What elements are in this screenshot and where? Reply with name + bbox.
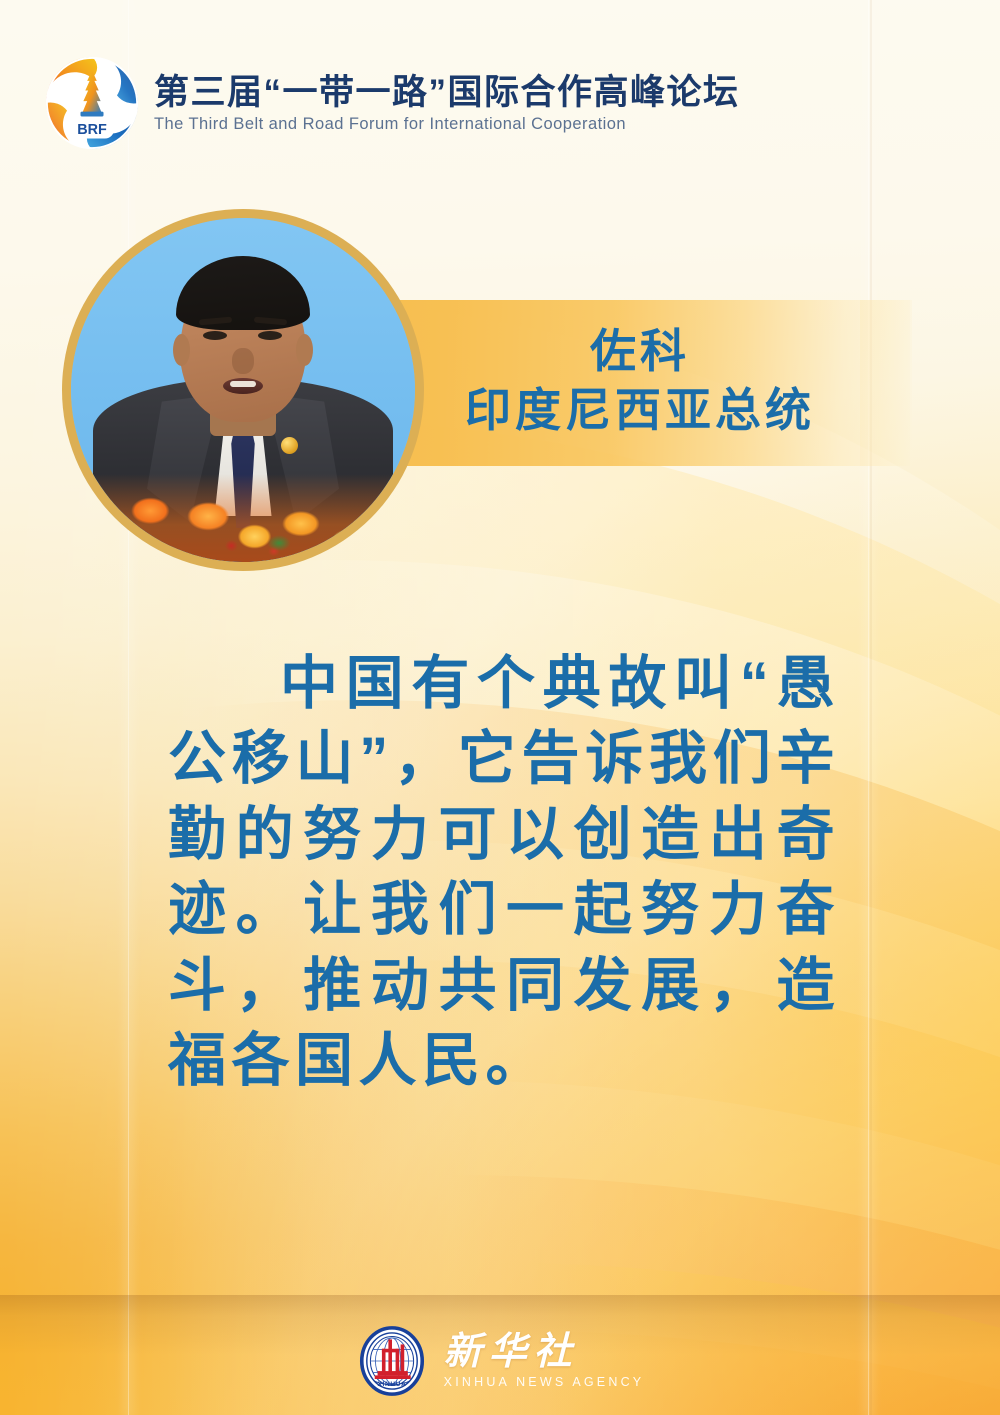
xinhua-name-cn: 新华社 (444, 1333, 579, 1373)
svg-text:XINHUA: XINHUA (377, 1381, 406, 1388)
speaker-info: 佐科 印度尼西亚总统 (360, 322, 920, 440)
xinhua-footer-text: 新华社 XINHUA NEWS AGENCY (444, 1333, 645, 1390)
xinhua-name-en: XINHUA NEWS AGENCY (444, 1375, 645, 1389)
forum-header-text: 第三届“一带一路”国际合作高峰论坛 The Third Belt and Roa… (154, 71, 740, 135)
panel-seam-right (868, 0, 869, 1415)
forum-title-en: The Third Belt and Road Forum for Intern… (154, 115, 740, 135)
brf-forum-logo-icon: BRF (44, 55, 140, 151)
quote-text: 中国有个典故叫“愚公移山”，它告诉我们辛勤的努力可以创造出奇迹。让我们一起努力奋… (168, 646, 840, 1098)
panel-seam-right-shadow (870, 0, 872, 1415)
svg-text:BRF: BRF (77, 122, 107, 138)
forum-header: BRF 第三届“一带一路”国际合作高峰论坛 The Third Belt and… (44, 55, 740, 151)
forum-title-cn: 第三届“一带一路”国际合作高峰论坛 (154, 73, 740, 113)
poster-canvas: BRF 第三届“一带一路”国际合作高峰论坛 The Third Belt and… (0, 0, 1000, 1415)
xinhua-news-agency-logo-icon: XINHUA (356, 1325, 428, 1397)
speaker-name: 佐科 (360, 322, 920, 381)
speaker-title: 印度尼西亚总统 (360, 381, 920, 440)
speaker-portrait-photo (62, 209, 424, 571)
panel-seam-left (128, 0, 129, 1415)
xinhua-footer: XINHUA 新华社 XINHUA NEWS AGENCY (0, 1325, 1000, 1397)
